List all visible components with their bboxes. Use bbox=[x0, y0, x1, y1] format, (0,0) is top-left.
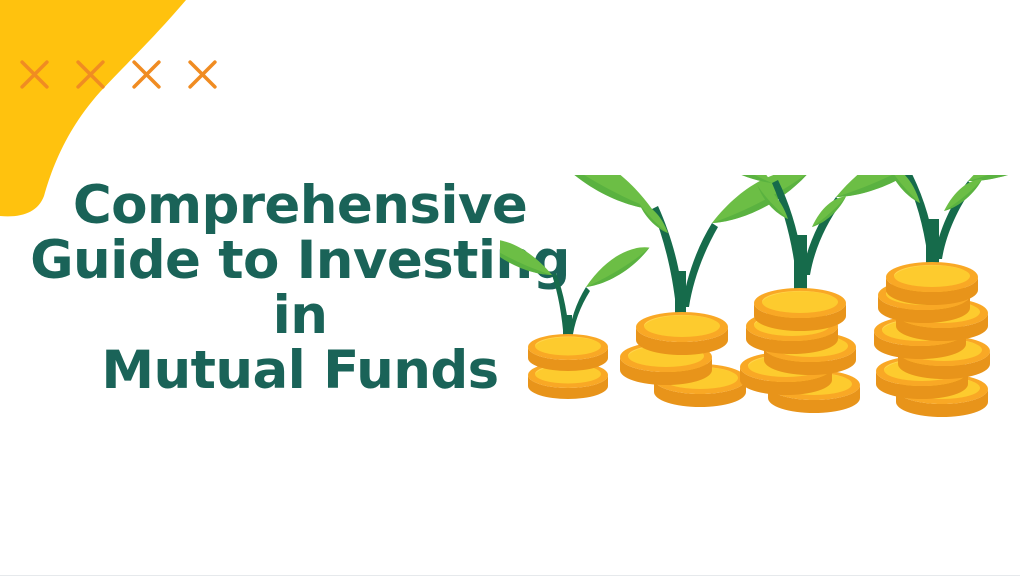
x-mark-row bbox=[18, 58, 219, 91]
plant-3-medium bbox=[663, 175, 947, 413]
x-mark-icon-2 bbox=[74, 58, 107, 91]
x-mark-icon-3 bbox=[130, 58, 163, 91]
x-mark-icon-1 bbox=[18, 58, 51, 91]
slide-canvas: Comprehensive Guide to Investing in Mutu… bbox=[0, 0, 1020, 576]
page-title: Comprehensive Guide to Investing in Mutu… bbox=[0, 178, 600, 398]
x-mark-icon-4 bbox=[186, 58, 219, 91]
plant-4-largest bbox=[792, 175, 1020, 417]
